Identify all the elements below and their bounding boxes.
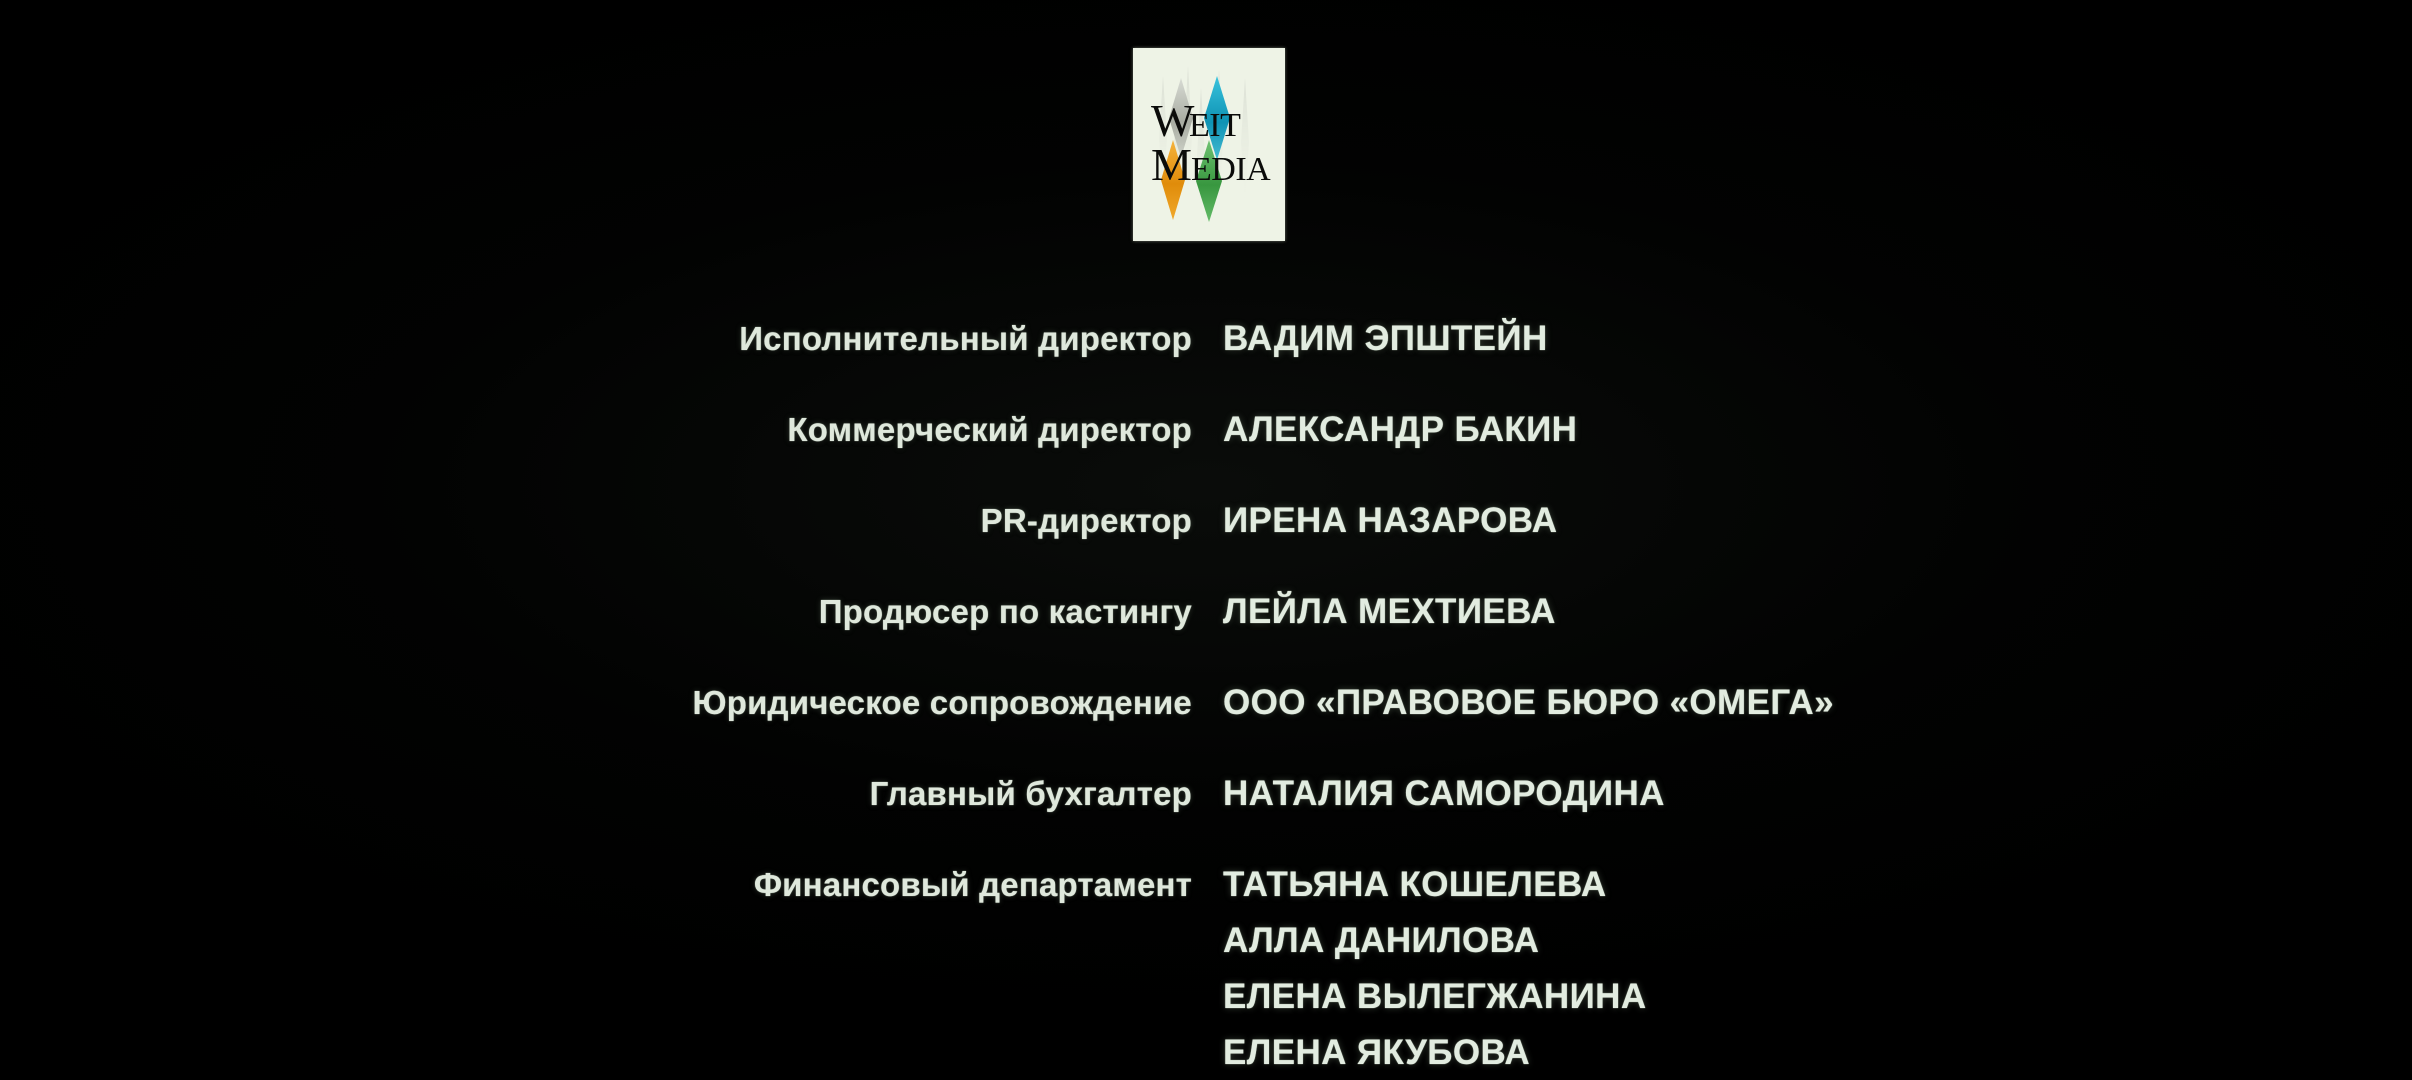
credit-name: АЛЕКСАНДР БАКИН (1223, 402, 1577, 458)
credit-name: ТАТЬЯНА КОШЕЛЕВА (1223, 857, 1647, 913)
credit-row: PR-директор ИРЕНА НАЗАРОВА (0, 493, 2412, 549)
credit-role-label: Исполнительный директор (0, 311, 1192, 367)
credit-names-group: АЛЕКСАНДР БАКИН (1223, 402, 1577, 458)
credit-role-label: Продюсер по кастингу (0, 584, 1192, 640)
credit-role-label: Главный бухгалтер (0, 766, 1192, 822)
credit-names-group: ООО «ПРАВОВОЕ БЮРО «ОМЕГА» (1223, 675, 1834, 731)
credit-row: Коммерческий директор АЛЕКСАНДР БАКИН (0, 402, 2412, 458)
svg-text:EIT: EIT (1189, 107, 1241, 144)
credit-name: ЛЕЙЛА МЕХТИЕВА (1223, 584, 1556, 640)
weit-media-logo: W EIT M EDIA (1133, 48, 1285, 241)
logo-artwork: W EIT M EDIA (1133, 48, 1285, 241)
credit-name: ВАДИМ ЭПШТЕЙН (1223, 311, 1548, 367)
credit-name: ООО «ПРАВОВОЕ БЮРО «ОМЕГА» (1223, 675, 1834, 731)
credit-role-label: Юридическое сопровождение (0, 675, 1192, 731)
credit-name: ИРЕНА НАЗАРОВА (1223, 493, 1557, 549)
svg-text:EDIA: EDIA (1191, 151, 1271, 188)
credit-row: Главный бухгалтер НАТАЛИЯ САМОРОДИНА (0, 766, 2412, 822)
credit-name: АЛЛА ДАНИЛОВА (1223, 913, 1647, 969)
credit-role-label: Финансовый департамент (0, 857, 1192, 913)
credit-name: НАТАЛИЯ САМОРОДИНА (1223, 766, 1665, 822)
credit-names-group: ИРЕНА НАЗАРОВА (1223, 493, 1557, 549)
credit-names-group: ВАДИМ ЭПШТЕЙН (1223, 311, 1548, 367)
credits-list: Исполнительный директор ВАДИМ ЭПШТЕЙН Ко… (0, 311, 2412, 1080)
credit-name: ЕЛЕНА ВЫЛЕГЖАНИНА (1223, 969, 1647, 1025)
credit-row: Продюсер по кастингу ЛЕЙЛА МЕХТИЕВА (0, 584, 2412, 640)
credit-names-group: НАТАЛИЯ САМОРОДИНА (1223, 766, 1665, 822)
credit-row: Исполнительный директор ВАДИМ ЭПШТЕЙН (0, 311, 2412, 367)
svg-text:M: M (1151, 139, 1191, 190)
credit-names-group: ТАТЬЯНА КОШЕЛЕВА АЛЛА ДАНИЛОВА ЕЛЕНА ВЫЛ… (1223, 857, 1647, 1080)
credit-row: Финансовый департамент ТАТЬЯНА КОШЕЛЕВА … (0, 857, 2412, 1080)
credit-name: ЕЛЕНА ЯКУБОВА (1223, 1025, 1647, 1080)
credit-row: Юридическое сопровождение ООО «ПРАВОВОЕ … (0, 675, 2412, 731)
credit-role-label: PR-директор (0, 493, 1192, 549)
credit-names-group: ЛЕЙЛА МЕХТИЕВА (1223, 584, 1556, 640)
credits-frame: W EIT M EDIA Исполнительный директор ВАД… (0, 0, 2412, 1080)
credit-role-label: Коммерческий директор (0, 402, 1192, 458)
